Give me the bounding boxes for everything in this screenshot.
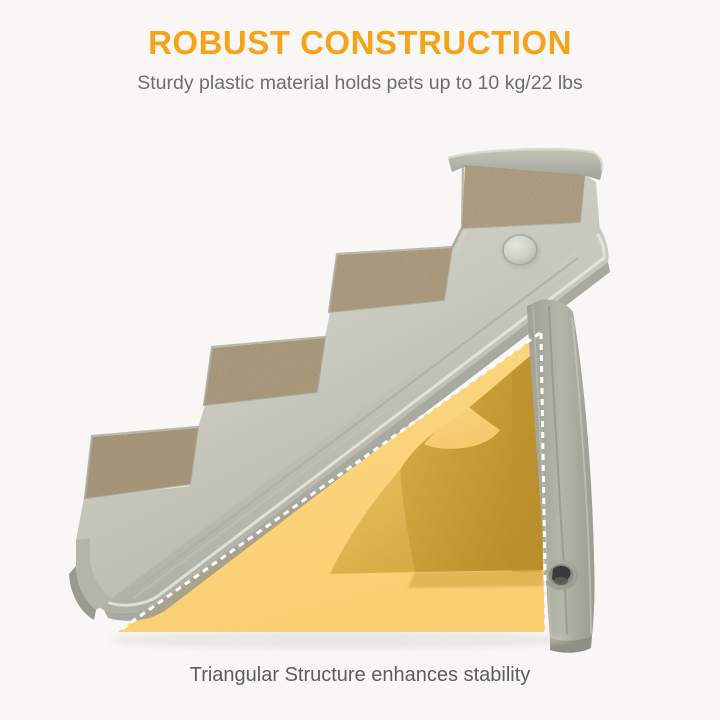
footer-caption: Triangular Structure enhances stability [0,664,720,687]
leg-screw-icon [544,560,578,590]
hinge-knob [501,234,541,270]
promo-image-root: ROBUST CONSTRUCTION Sturdy plastic mater… [0,0,720,720]
product-illustration [0,0,720,720]
contact-shadow [110,631,570,649]
